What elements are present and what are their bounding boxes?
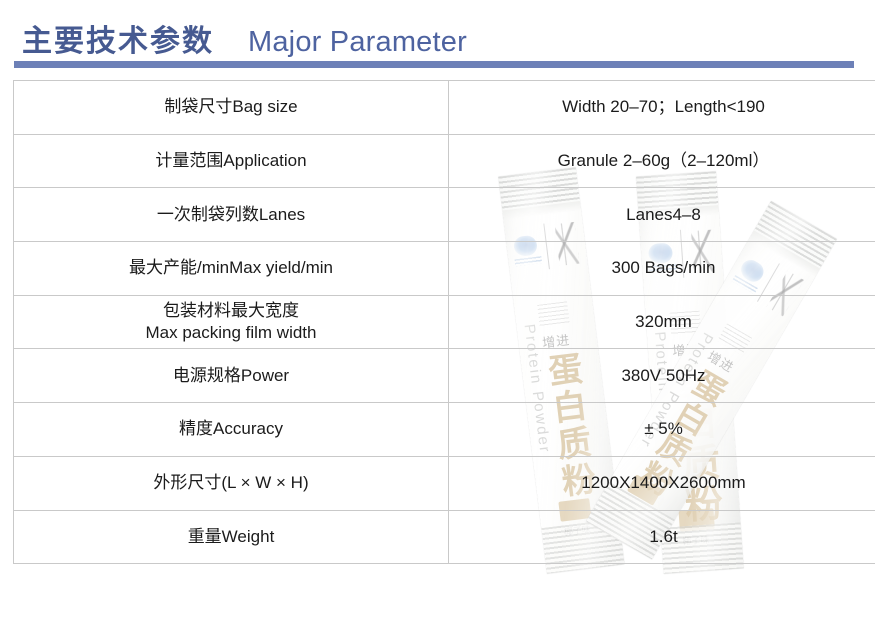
spec-value: 1200X1400X2600mm — [449, 456, 875, 510]
spec-label-line1: 包装材料最大宽度 — [20, 300, 442, 322]
spec-label: 外形尺寸(L × W × H) — [14, 456, 449, 510]
spec-value: 1.6t — [449, 510, 875, 564]
spec-label: 电源规格Power — [14, 349, 449, 403]
table-row: 包装材料最大宽度 Max packing film width 320mm — [14, 295, 875, 349]
page-root: 主要技术参数 Major Parameter 增进 蛋白质粉 Protein P… — [0, 0, 875, 638]
page-title-chinese: 主要技术参数 — [22, 16, 214, 60]
spec-label: 包装材料最大宽度 Max packing film width — [14, 295, 449, 349]
spec-label-line2: Max packing film width — [20, 322, 442, 344]
table-row: 制袋尺寸Bag size Width 20–70；Length<190 — [14, 81, 875, 135]
table-row: 重量Weight 1.6t — [14, 510, 875, 564]
table-row: 最大产能/minMax yield/min 300 Bags/min — [14, 242, 875, 296]
spec-value: Granule 2–60g（2–120ml） — [449, 134, 875, 188]
title-accent-rule — [14, 61, 854, 68]
spec-label: 制袋尺寸Bag size — [14, 81, 449, 135]
spec-label: 一次制袋列数Lanes — [14, 188, 449, 242]
spec-value: 300 Bags/min — [449, 242, 875, 296]
table-row: 精度Accuracy ± 5% — [14, 403, 875, 457]
page-title-english: Major Parameter — [248, 26, 467, 59]
table-row: 计量范围Application Granule 2–60g（2–120ml） — [14, 134, 875, 188]
page-header: 主要技术参数 Major Parameter — [0, 0, 875, 70]
spec-value: ± 5% — [449, 403, 875, 457]
spec-label: 计量范围Application — [14, 134, 449, 188]
table-row: 外形尺寸(L × W × H) 1200X1400X2600mm — [14, 456, 875, 510]
spec-value: 380V 50Hz — [449, 349, 875, 403]
spec-label: 最大产能/minMax yield/min — [14, 242, 449, 296]
spec-value: 320mm — [449, 295, 875, 349]
page-title: 主要技术参数 Major Parameter — [22, 16, 467, 60]
spec-value: Width 20–70；Length<190 — [449, 81, 875, 135]
table-row: 一次制袋列数Lanes Lanes4–8 — [14, 188, 875, 242]
spec-label: 精度Accuracy — [14, 403, 449, 457]
spec-label: 重量Weight — [14, 510, 449, 564]
specification-table: 制袋尺寸Bag size Width 20–70；Length<190 计量范围… — [13, 80, 875, 564]
spec-value: Lanes4–8 — [449, 188, 875, 242]
table-row: 电源规格Power 380V 50Hz — [14, 349, 875, 403]
specification-table-body: 制袋尺寸Bag size Width 20–70；Length<190 计量范围… — [14, 81, 875, 564]
